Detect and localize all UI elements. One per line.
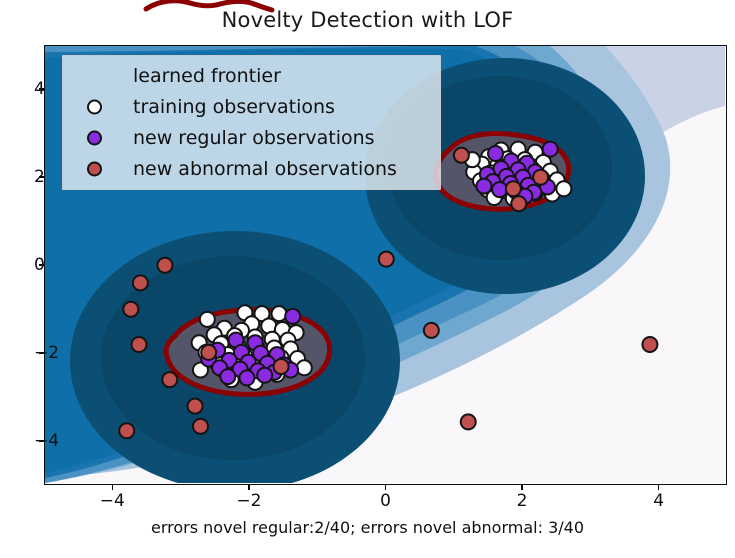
red-circle-icon: [87, 161, 102, 176]
data-point: [257, 368, 272, 383]
white-circle-icon: [87, 99, 102, 114]
data-point: [220, 369, 235, 384]
legend-item-learned-frontier[interactable]: learned frontier: [63, 60, 440, 91]
data-point: [200, 312, 215, 327]
x-tick-label: 0: [380, 491, 391, 511]
data-point: [119, 423, 134, 438]
x-axis-label: errors novel regular:2/40; errors novel …: [0, 518, 735, 537]
x-tick: [112, 485, 114, 490]
data-point: [424, 323, 439, 338]
x-tick-label: 2: [517, 491, 528, 511]
legend-item-new-abnormal-observations[interactable]: new abnormal observations: [63, 153, 440, 184]
x-tick: [248, 485, 250, 490]
figure: Novelty Detection with LOF: [0, 0, 735, 558]
data-point: [476, 179, 491, 194]
legend-label: new abnormal observations: [133, 158, 397, 180]
x-tick-label: 4: [653, 491, 664, 511]
data-point: [285, 309, 300, 324]
data-point: [188, 399, 203, 414]
legend-item-training-observations[interactable]: training observations: [63, 91, 440, 122]
data-point: [274, 359, 289, 374]
data-point: [533, 170, 548, 185]
x-tick-label: −4: [100, 491, 125, 511]
data-point: [123, 302, 138, 317]
data-point: [132, 337, 147, 352]
purple-circle-icon: [87, 130, 102, 145]
legend-label: learned frontier: [133, 65, 281, 87]
data-point: [506, 181, 521, 196]
x-tick: [385, 485, 387, 490]
data-point: [379, 252, 394, 267]
data-point: [488, 146, 503, 161]
data-point: [461, 414, 476, 429]
data-point: [157, 258, 172, 273]
data-point: [297, 360, 312, 375]
data-point: [193, 419, 208, 434]
data-point: [642, 337, 657, 352]
x-tick: [521, 485, 523, 490]
legend-item-new-regular-observations[interactable]: new regular observations: [63, 122, 440, 153]
data-point: [454, 148, 469, 163]
data-point: [133, 275, 148, 290]
data-point: [556, 181, 571, 196]
data-point: [201, 345, 216, 360]
data-point: [543, 142, 558, 157]
data-point: [239, 370, 254, 385]
legend: learned frontier training observations n…: [62, 55, 441, 190]
legend-label: new regular observations: [133, 127, 375, 149]
data-point: [162, 372, 177, 387]
legend-label: training observations: [133, 96, 335, 118]
page-title: Novelty Detection with LOF: [0, 8, 735, 32]
data-point: [272, 306, 287, 321]
x-tick-label: −2: [236, 491, 261, 511]
x-tick: [658, 485, 660, 490]
data-point: [511, 196, 526, 211]
